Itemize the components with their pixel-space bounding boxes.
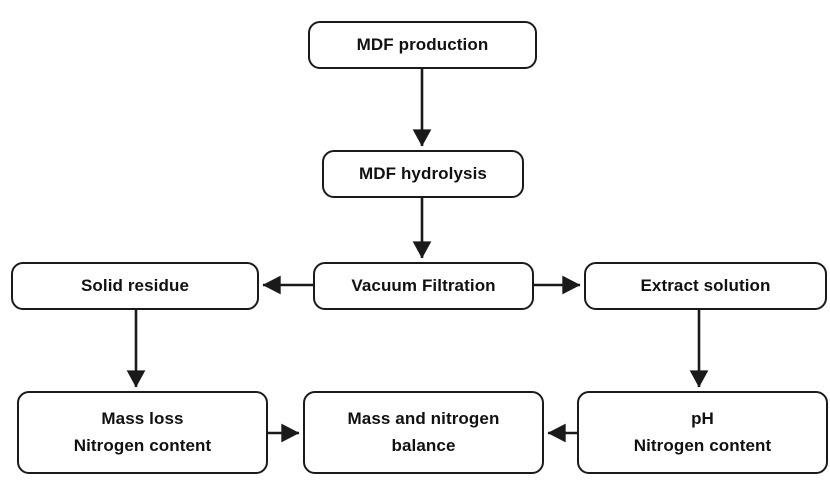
node-mass-nitrogen-balance-line-2: balance (391, 433, 455, 459)
node-vacuum-filtration[interactable]: Vacuum Filtration (313, 262, 534, 310)
flowchart-canvas: MDF production MDF hydrolysis Solid resi… (0, 0, 830, 490)
node-mass-loss-line-1: Mass loss (101, 406, 183, 432)
node-mdf-production-line-1: MDF production (357, 32, 489, 58)
node-mdf-production[interactable]: MDF production (308, 21, 537, 69)
node-solid-residue[interactable]: Solid residue (11, 262, 259, 310)
node-extract-solution[interactable]: Extract solution (584, 262, 827, 310)
node-vacuum-filtration-line-1: Vacuum Filtration (351, 273, 495, 299)
node-ph-nitrogen-line-2: Nitrogen content (634, 433, 772, 459)
node-mdf-hydrolysis[interactable]: MDF hydrolysis (322, 150, 524, 198)
node-mdf-hydrolysis-line-1: MDF hydrolysis (359, 161, 487, 187)
node-extract-solution-line-1: Extract solution (640, 273, 770, 299)
node-solid-residue-line-1: Solid residue (81, 273, 189, 299)
node-mass-loss[interactable]: Mass loss Nitrogen content (17, 391, 268, 474)
node-ph-nitrogen-line-1: pH (691, 406, 714, 432)
node-mass-nitrogen-balance-line-1: Mass and nitrogen (348, 406, 500, 432)
node-mass-nitrogen-balance[interactable]: Mass and nitrogen balance (303, 391, 544, 474)
node-ph-nitrogen[interactable]: pH Nitrogen content (577, 391, 828, 474)
node-mass-loss-line-2: Nitrogen content (74, 433, 212, 459)
